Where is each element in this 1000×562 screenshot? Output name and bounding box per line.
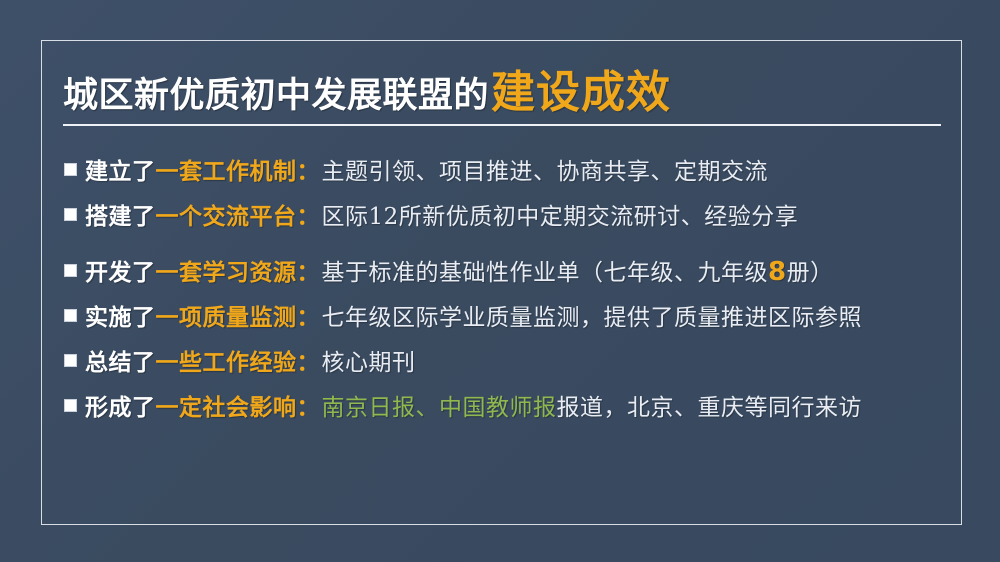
list-item-colon: ： xyxy=(297,343,320,377)
list-item-detail: 主题引领、项目推进、协商共享、定期交流 xyxy=(322,152,769,186)
list-item-lead: 总结了 xyxy=(85,343,156,377)
list-item-highlight: 一些工作经验 xyxy=(156,343,297,377)
list-item-lead: 实施了 xyxy=(85,298,156,332)
list-item-colon: ： xyxy=(297,253,320,287)
detail-text-before: 基于标准的基础性作业单（七年级、九年级 xyxy=(322,260,769,286)
list-item: 总结了一些工作经验：核心期刊 xyxy=(64,343,954,388)
bullet-list: 建立了一套工作机制：主题引领、项目推进、协商共享、定期交流 搭建了一个交流平台：… xyxy=(64,152,954,433)
list-item-highlight: 一个交流平台 xyxy=(156,197,297,231)
square-bullet-icon xyxy=(64,399,77,412)
slide-canvas: 城区新优质初中发展联盟的建设成效 建立了一套工作机制：主题引领、项目推进、协商共… xyxy=(0,0,1000,562)
page-title-main: 城区新优质初中发展联盟的 xyxy=(63,79,489,114)
list-item: 实施了一项质量监测：七年级区际学业质量监测，提供了质量推进区际参照 xyxy=(64,298,954,343)
list-item-lead: 建立了 xyxy=(85,152,156,186)
list-item-highlight: 一套学习资源 xyxy=(156,253,297,287)
list-item-lead: 形成了 xyxy=(85,388,156,422)
list-item-lead: 开发了 xyxy=(85,253,156,287)
title-divider xyxy=(63,124,941,126)
square-bullet-icon xyxy=(64,354,77,367)
page-title: 城区新优质初中发展联盟的建设成效 xyxy=(63,52,943,114)
list-item-detail: 核心期刊 xyxy=(322,343,416,377)
detail-text-after: 报道，北京、重庆等同行来访 xyxy=(557,395,863,421)
list-item: 建立了一套工作机制：主题引领、项目推进、协商共享、定期交流 xyxy=(64,152,954,197)
list-item-highlight: 一套工作机制 xyxy=(156,152,297,186)
square-bullet-icon xyxy=(64,208,77,221)
list-item-lead: 搭建了 xyxy=(85,197,156,231)
list-item-colon: ： xyxy=(297,152,320,186)
list-item-detail: 基于标准的基础性作业单（七年级、九年级8册） xyxy=(322,253,834,287)
list-item-highlight: 一定社会影响 xyxy=(156,388,297,422)
square-bullet-icon xyxy=(64,163,77,176)
list-item-colon: ： xyxy=(297,298,320,332)
list-item-detail: 七年级区际学业质量监测，提供了质量推进区际参照 xyxy=(322,298,863,332)
detail-text-after: 册） xyxy=(787,260,834,286)
list-item: 搭建了一个交流平台：区际12所新优质初中定期交流研讨、经验分享 xyxy=(64,197,954,242)
list-item: 形成了一定社会影响：南京日报、中国教师报报道，北京、重庆等同行来访 xyxy=(64,388,954,433)
list-item-detail: 南京日报、中国教师报报道，北京、重庆等同行来访 xyxy=(322,388,863,422)
list-item-detail: 区际12所新优质初中定期交流研讨、经验分享 xyxy=(322,197,799,231)
detail-number-accent: 8 xyxy=(768,257,787,287)
square-bullet-icon xyxy=(64,309,77,322)
page-title-accent: 建设成效 xyxy=(491,72,671,114)
list-item-colon: ： xyxy=(297,388,320,422)
list-item-colon: ： xyxy=(297,197,320,231)
list-item: 开发了一套学习资源：基于标准的基础性作业单（七年级、九年级8册） xyxy=(64,253,954,298)
list-item-highlight: 一项质量监测 xyxy=(156,298,297,332)
detail-media-names: 南京日报、中国教师报 xyxy=(322,395,557,421)
square-bullet-icon xyxy=(64,264,77,277)
